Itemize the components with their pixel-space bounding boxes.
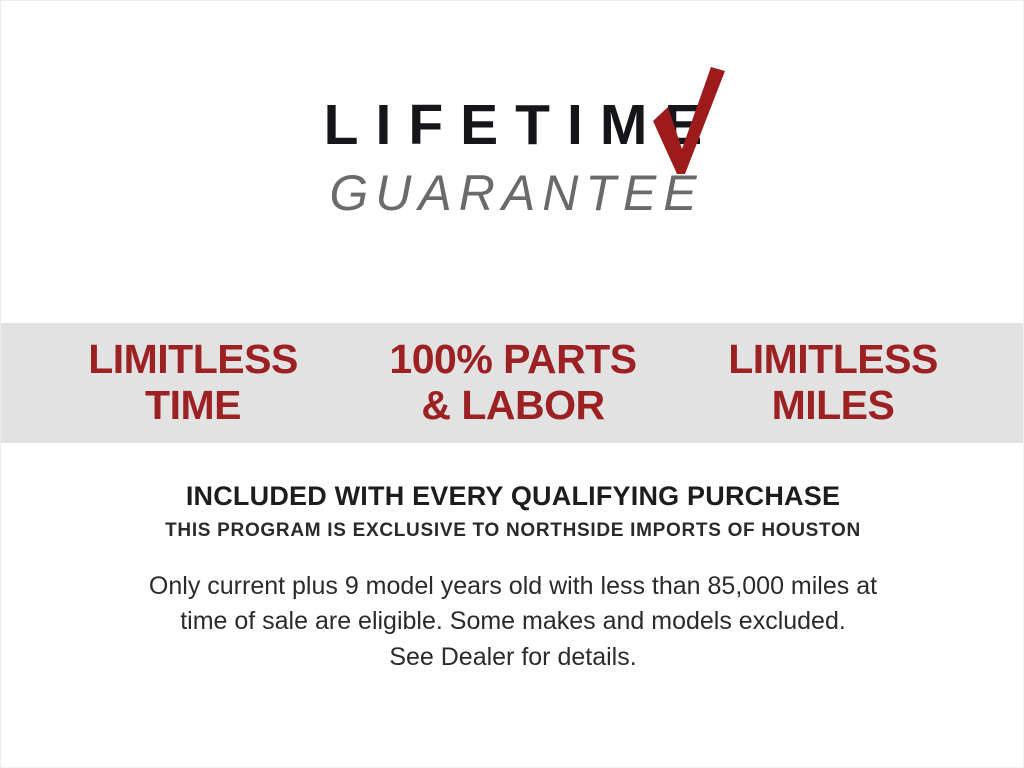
feature-column-parts-labor: 100% PARTS & LABOR <box>353 337 673 429</box>
feature-line-1: LIMITLESS <box>673 337 993 383</box>
feature-column-limitless-time: LIMITLESS TIME <box>33 337 353 429</box>
feature-line-2: MILES <box>673 383 993 429</box>
feature-line-1: LIMITLESS <box>33 337 353 383</box>
feature-column-limitless-miles: LIMITLESS MILES <box>673 337 993 429</box>
logo-block: LIFETIME GUARANTEE <box>1 97 1024 218</box>
logo-lockup: LIFETIME GUARANTEE <box>307 97 720 218</box>
copy-block: INCLUDED WITH EVERY QUALIFYING PURCHASE … <box>1 481 1024 675</box>
logo-primary-text: LIFETIME <box>307 97 720 154</box>
feature-line-1: 100% PARTS <box>353 337 673 383</box>
fineprint-line: time of sale are eligible. Some makes an… <box>63 604 963 640</box>
headline: INCLUDED WITH EVERY QUALIFYING PURCHASE <box>1 481 1024 512</box>
subheadline: THIS PROGRAM IS EXCLUSIVE TO NORTHSIDE I… <box>1 520 1024 543</box>
feature-band: LIMITLESS TIME 100% PARTS & LABOR LIMITL… <box>1 323 1024 443</box>
fineprint-line: Only current plus 9 model years old with… <box>63 569 963 605</box>
feature-line-2: & LABOR <box>353 383 673 429</box>
fineprint-line: See Dealer for details. <box>63 640 963 676</box>
lifetime-guarantee-advertisement: LIFETIME GUARANTEE LIMITLESS TIME 100% P… <box>0 0 1024 768</box>
feature-line-2: TIME <box>33 383 353 429</box>
logo-secondary-text: GUARANTEE <box>307 168 720 218</box>
fineprint-disclaimer: Only current plus 9 model years old with… <box>63 569 963 676</box>
